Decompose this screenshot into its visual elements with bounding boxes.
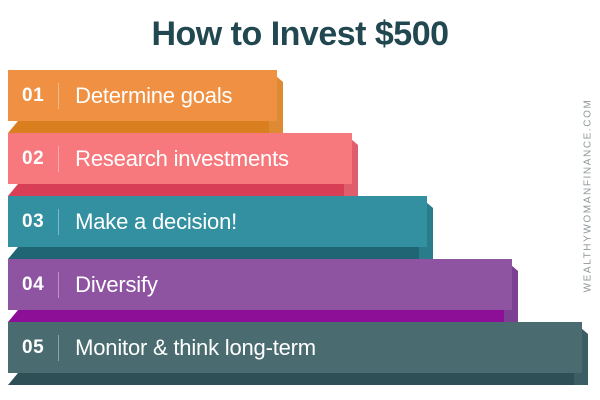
step-number: 05 <box>22 337 44 359</box>
page-title: How to Invest $500 <box>0 12 600 56</box>
step-row: 04Diversify <box>0 259 600 322</box>
step-row: 02Research investments <box>0 133 600 196</box>
step-divider <box>58 335 59 361</box>
step-number: 01 <box>22 85 44 107</box>
step-face: 02Research investments <box>8 133 352 184</box>
step-face: 01Determine goals <box>8 70 277 121</box>
step-face: 05Monitor & think long-term <box>8 322 582 373</box>
step-divider <box>58 83 59 109</box>
step-label: Determine goals <box>75 83 232 109</box>
step-row: wealthywomanfinance.com05Monitor & think… <box>0 322 600 385</box>
step-row: 01Determine goals <box>0 70 600 133</box>
step-number: 04 <box>22 274 44 296</box>
step-row: 03Make a decision! <box>0 196 600 259</box>
step-label: Research investments <box>75 146 289 172</box>
infographic-canvas: How to Invest $500 01Determine goals02Re… <box>0 0 600 400</box>
step-face: 03Make a decision! <box>8 196 427 247</box>
step-label: Monitor & think long-term <box>75 335 316 361</box>
step-label: Diversify <box>75 272 158 298</box>
step-bottom-shadow <box>8 373 588 385</box>
step-bottom-shadow <box>8 184 358 196</box>
step-bottom-shadow <box>8 310 518 322</box>
step-face: 04Diversify <box>8 259 512 310</box>
step-label: Make a decision! <box>75 209 237 235</box>
steps-list: 01Determine goals02Research investments0… <box>0 70 600 385</box>
step-divider <box>58 146 59 172</box>
step-divider <box>58 272 59 298</box>
step-bottom-shadow <box>8 247 433 259</box>
step-bottom-shadow <box>8 121 283 133</box>
step-divider <box>58 209 59 235</box>
step-number: 02 <box>22 148 44 170</box>
step-number: 03 <box>22 211 44 233</box>
